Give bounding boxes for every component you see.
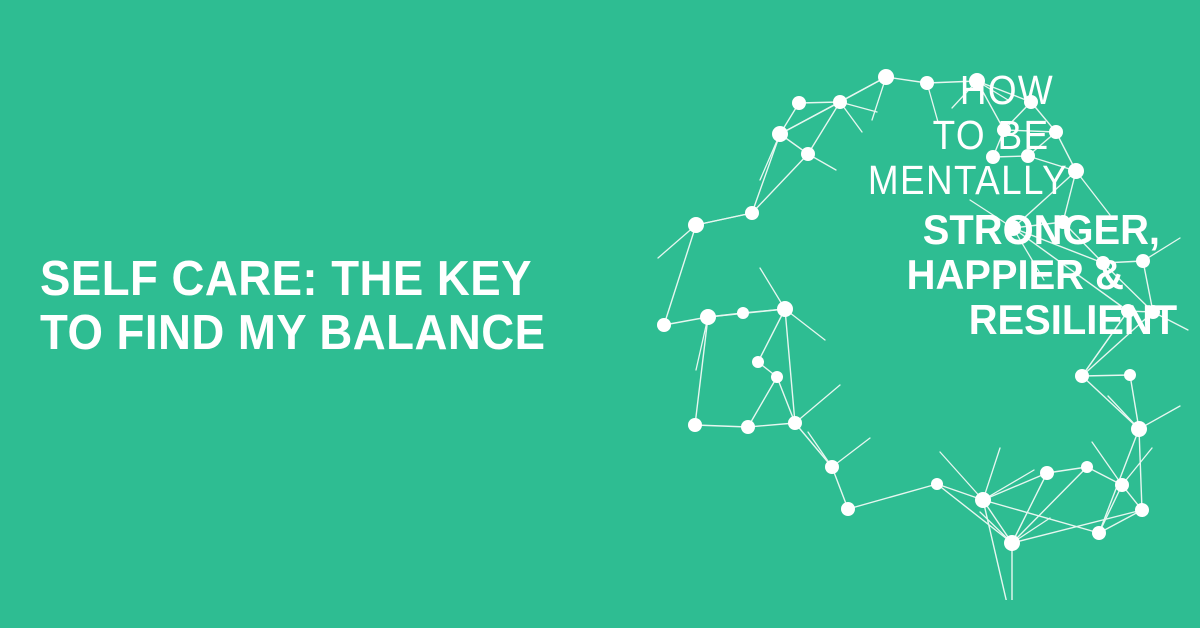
network-edge	[1004, 130, 1056, 132]
network-edge	[977, 81, 1004, 130]
network-node	[833, 95, 847, 109]
network-node	[1081, 461, 1093, 473]
network-node	[931, 478, 943, 490]
network-spoke	[1092, 442, 1122, 485]
network-node	[1068, 163, 1084, 179]
network-node	[825, 460, 839, 474]
network-edge	[1082, 375, 1130, 376]
network-node	[1121, 304, 1135, 318]
network-node	[1115, 478, 1129, 492]
network-edge	[983, 500, 1012, 600]
network-edge	[752, 134, 780, 213]
network-edges	[664, 77, 1153, 600]
network-edge	[748, 423, 795, 427]
network-node	[997, 123, 1011, 137]
brain-network-svg	[640, 40, 1200, 600]
network-nodes	[657, 69, 1160, 600]
network-node	[792, 96, 806, 110]
network-spoke	[983, 470, 1034, 500]
network-edge	[977, 81, 1031, 102]
network-edge	[1082, 311, 1128, 376]
network-node	[1146, 305, 1160, 319]
network-spokes	[658, 77, 1188, 543]
self-care-banner: SELF CARE: THE KEY TO FIND MY BALANCE HO…	[0, 0, 1200, 628]
network-node	[969, 73, 985, 89]
network-node	[1131, 421, 1147, 437]
network-edge	[1082, 312, 1153, 376]
network-edge	[983, 500, 1099, 533]
network-node	[1040, 466, 1054, 480]
network-edge	[1012, 473, 1047, 543]
network-node	[1075, 369, 1089, 383]
network-node	[657, 318, 671, 332]
network-node	[841, 502, 855, 516]
network-spoke	[1076, 171, 1110, 215]
network-spoke	[1122, 448, 1152, 485]
network-edge	[695, 317, 708, 425]
network-node	[1135, 503, 1149, 517]
network-node	[745, 206, 759, 220]
network-node	[1056, 215, 1070, 229]
network-edge	[1082, 376, 1139, 429]
headline-line-1: SELF CARE: THE KEY	[40, 252, 598, 306]
network-node	[1092, 526, 1106, 540]
network-spoke	[832, 438, 870, 467]
network-spoke	[1013, 228, 1044, 280]
network-edge	[758, 309, 785, 362]
network-edge	[848, 484, 937, 509]
network-edge	[1099, 510, 1142, 533]
network-node	[920, 76, 934, 90]
page-title: SELF CARE: THE KEY TO FIND MY BALANCE	[40, 252, 598, 360]
network-node	[788, 416, 802, 430]
network-node	[752, 356, 764, 368]
network-node	[1049, 125, 1063, 139]
network-node	[986, 150, 1000, 164]
network-node	[700, 309, 716, 325]
brain-network-icon: HOW TO BE MENTALLY STRONGER, HAPPIER & R…	[640, 40, 1200, 600]
network-node	[801, 147, 815, 161]
network-node	[688, 217, 704, 233]
network-node	[772, 126, 788, 142]
network-node	[737, 307, 749, 319]
network-node	[1004, 535, 1020, 551]
network-edge	[1013, 228, 1128, 311]
network-node	[975, 492, 991, 508]
network-node	[771, 371, 783, 383]
network-edge	[1063, 222, 1103, 263]
network-edge	[695, 425, 748, 427]
network-node	[1005, 220, 1021, 236]
network-edge	[795, 423, 832, 467]
network-edge	[1139, 429, 1142, 510]
network-edge	[748, 377, 777, 427]
network-node	[1124, 369, 1136, 381]
network-node	[1021, 149, 1035, 163]
network-node	[1136, 254, 1150, 268]
network-node	[878, 69, 894, 85]
network-edge	[696, 213, 752, 225]
network-edge	[752, 154, 808, 213]
network-edge	[1013, 228, 1103, 263]
network-edge	[1099, 485, 1122, 533]
network-node	[1096, 256, 1110, 270]
network-edge	[785, 309, 795, 423]
network-spoke	[795, 385, 840, 423]
network-node	[1024, 95, 1038, 109]
network-edge	[983, 473, 1047, 500]
network-node	[688, 418, 702, 432]
network-node	[777, 301, 793, 317]
headline-line-2: TO FIND MY BALANCE	[40, 306, 598, 360]
network-node	[741, 420, 755, 434]
network-edge	[664, 225, 696, 325]
